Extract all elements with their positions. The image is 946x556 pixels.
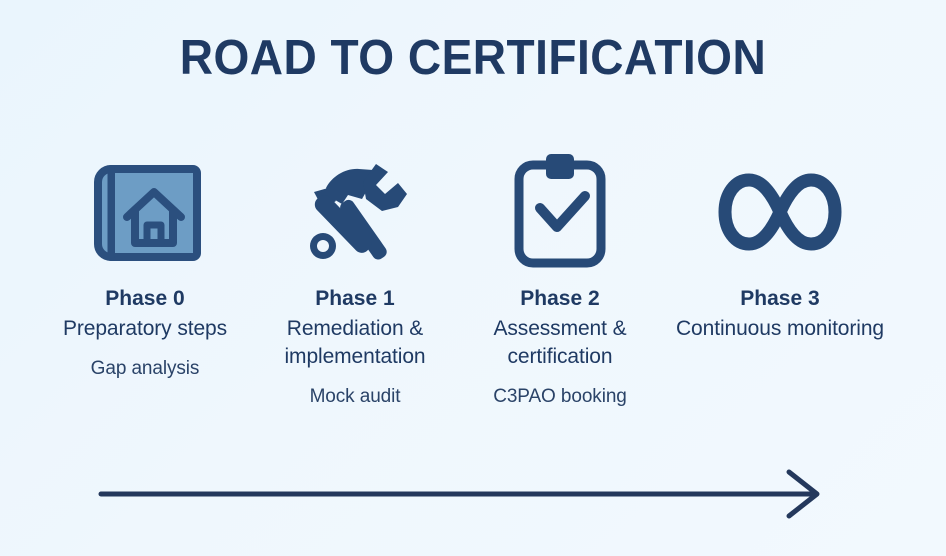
phase-title: Phase 0 — [30, 286, 260, 312]
infinity-icon — [665, 148, 895, 276]
phase-caption: Mock audit — [240, 385, 470, 410]
phase-item-1[interactable]: Phase 1 Remediation & implementation Moc… — [240, 148, 470, 409]
page-title: ROAD TO CERTIFICATION — [28, 33, 917, 84]
phase-title: Phase 2 — [445, 286, 675, 312]
phase-description: Preparatory steps — [30, 315, 260, 343]
infographic-canvas: ROAD TO CERTIFICATION Phas — [0, 0, 946, 556]
phase-list: Phase 0 Preparatory steps Gap analysis — [0, 148, 946, 448]
phase-title: Phase 3 — [665, 286, 895, 312]
right-arrow-icon — [101, 472, 817, 516]
phase-description: Assessment & certification — [445, 315, 675, 370]
phase-description: Continuous monitoring — [665, 315, 895, 343]
phase-item-2[interactable]: Phase 2 Assessment & certification C3PAO… — [445, 148, 675, 409]
phase-item-3[interactable]: Phase 3 Continuous monitoring — [665, 148, 895, 343]
phase-item-0[interactable]: Phase 0 Preparatory steps Gap analysis — [30, 148, 260, 382]
clipboard-check-icon — [445, 148, 675, 276]
phase-title: Phase 1 — [240, 286, 470, 312]
phase-caption: Gap analysis — [30, 357, 260, 382]
phase-caption: C3PAO booking — [445, 385, 675, 410]
hammer-wrench-icon — [240, 148, 470, 276]
phase-description: Remediation & implementation — [240, 315, 470, 370]
timeline-arrow — [95, 466, 835, 522]
blueprint-house-icon — [30, 148, 260, 276]
